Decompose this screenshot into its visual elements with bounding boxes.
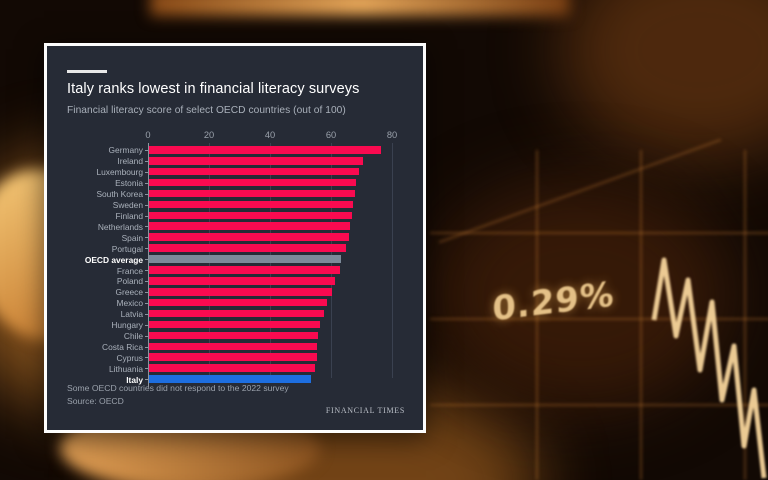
bar-category-label: Estonia bbox=[115, 179, 143, 187]
bar-category-label: Lithuania bbox=[109, 365, 143, 373]
bar-spain bbox=[149, 233, 349, 241]
bar-hungary bbox=[149, 321, 320, 329]
bar-category-label: Luxembourg bbox=[96, 168, 143, 176]
y-axis-tick bbox=[145, 259, 148, 260]
chart-source: Source: OECD bbox=[67, 396, 124, 408]
bg-glow-topright bbox=[560, 0, 768, 160]
bar-category-label: France bbox=[117, 267, 143, 275]
bar-oecd-average bbox=[149, 255, 341, 263]
bar-category-label: South Korea bbox=[96, 190, 143, 198]
bar-category-label: OECD average bbox=[85, 256, 143, 264]
bar-luxembourg bbox=[149, 168, 359, 176]
y-axis-tick bbox=[145, 281, 148, 282]
y-axis-tick bbox=[145, 161, 148, 162]
bar-poland bbox=[149, 277, 335, 285]
bar-category-label: Finland bbox=[116, 212, 143, 220]
bar-greece bbox=[149, 288, 332, 296]
bar-cyprus bbox=[149, 353, 317, 361]
bar-france bbox=[149, 266, 340, 274]
x-gridline bbox=[392, 143, 393, 378]
brand-wordmark: FINANCIAL TIMES bbox=[326, 406, 405, 415]
bg-grid-v2 bbox=[640, 150, 642, 480]
bar-category-label: Mexico bbox=[116, 299, 143, 307]
bar-finland bbox=[149, 212, 352, 220]
y-axis-tick bbox=[145, 347, 148, 348]
bar-category-label: Germany bbox=[109, 146, 143, 154]
bar-estonia bbox=[149, 179, 356, 187]
y-axis-tick bbox=[145, 357, 148, 358]
y-axis-tick bbox=[145, 270, 148, 271]
x-axis-tick-label: 60 bbox=[326, 130, 336, 140]
bar-category-label: Chile bbox=[124, 332, 143, 340]
y-axis-tick bbox=[145, 172, 148, 173]
x-axis-tick-label: 80 bbox=[387, 130, 397, 140]
y-axis-tick bbox=[145, 336, 148, 337]
y-axis-tick bbox=[145, 292, 148, 293]
bar-sweden bbox=[149, 201, 353, 209]
bar-category-label: Sweden bbox=[113, 201, 143, 209]
y-axis-tick bbox=[145, 205, 148, 206]
bar-mexico bbox=[149, 299, 327, 307]
bar-ireland bbox=[149, 157, 363, 165]
y-axis-tick bbox=[145, 314, 148, 315]
bar-category-label: Cyprus bbox=[116, 354, 143, 362]
bar-portugal bbox=[149, 244, 346, 252]
x-axis-tick-label: 0 bbox=[145, 130, 150, 140]
bar-category-label: Ireland bbox=[117, 157, 143, 165]
y-axis-tick bbox=[145, 325, 148, 326]
bar-category-label: Hungary bbox=[111, 321, 143, 329]
bar-chile bbox=[149, 332, 318, 340]
bar-chart: 020406080GermanyIrelandLuxembourgEstonia… bbox=[47, 46, 429, 436]
bar-category-label: Costa Rica bbox=[102, 343, 143, 351]
bar-germany bbox=[149, 146, 381, 154]
y-axis-tick bbox=[145, 183, 148, 184]
bar-category-label: Spain bbox=[122, 234, 143, 242]
y-axis-tick bbox=[145, 368, 148, 369]
bar-lithuania bbox=[149, 364, 315, 372]
bar-category-label: Portugal bbox=[112, 245, 143, 253]
bar-netherlands bbox=[149, 222, 350, 230]
bar-category-label: Latvia bbox=[121, 310, 143, 318]
bar-category-label: Greece bbox=[116, 288, 143, 296]
y-axis-tick bbox=[145, 303, 148, 304]
y-axis-tick bbox=[145, 194, 148, 195]
chart-card: Italy ranks lowest in financial literacy… bbox=[44, 43, 426, 433]
bg-ticker-line-icon bbox=[650, 250, 768, 480]
bar-category-label: Poland bbox=[117, 277, 143, 285]
y-axis-tick bbox=[145, 248, 148, 249]
y-axis-tick bbox=[145, 216, 148, 217]
bg-grid-h1 bbox=[430, 232, 768, 234]
y-axis-tick bbox=[145, 226, 148, 227]
chart-note: Some OECD countries did not respond to t… bbox=[67, 383, 289, 395]
bar-italy bbox=[149, 375, 311, 383]
y-axis-tick bbox=[145, 379, 148, 380]
y-axis-tick bbox=[145, 150, 148, 151]
bar-costa-rica bbox=[149, 343, 317, 351]
x-axis-tick-label: 40 bbox=[265, 130, 275, 140]
bar-south-korea bbox=[149, 190, 355, 198]
bg-flame-topstrip bbox=[150, 0, 570, 16]
y-axis-tick bbox=[145, 237, 148, 238]
bar-latvia bbox=[149, 310, 324, 318]
x-axis-tick-label: 20 bbox=[204, 130, 214, 140]
bar-category-label: Netherlands bbox=[98, 223, 143, 231]
